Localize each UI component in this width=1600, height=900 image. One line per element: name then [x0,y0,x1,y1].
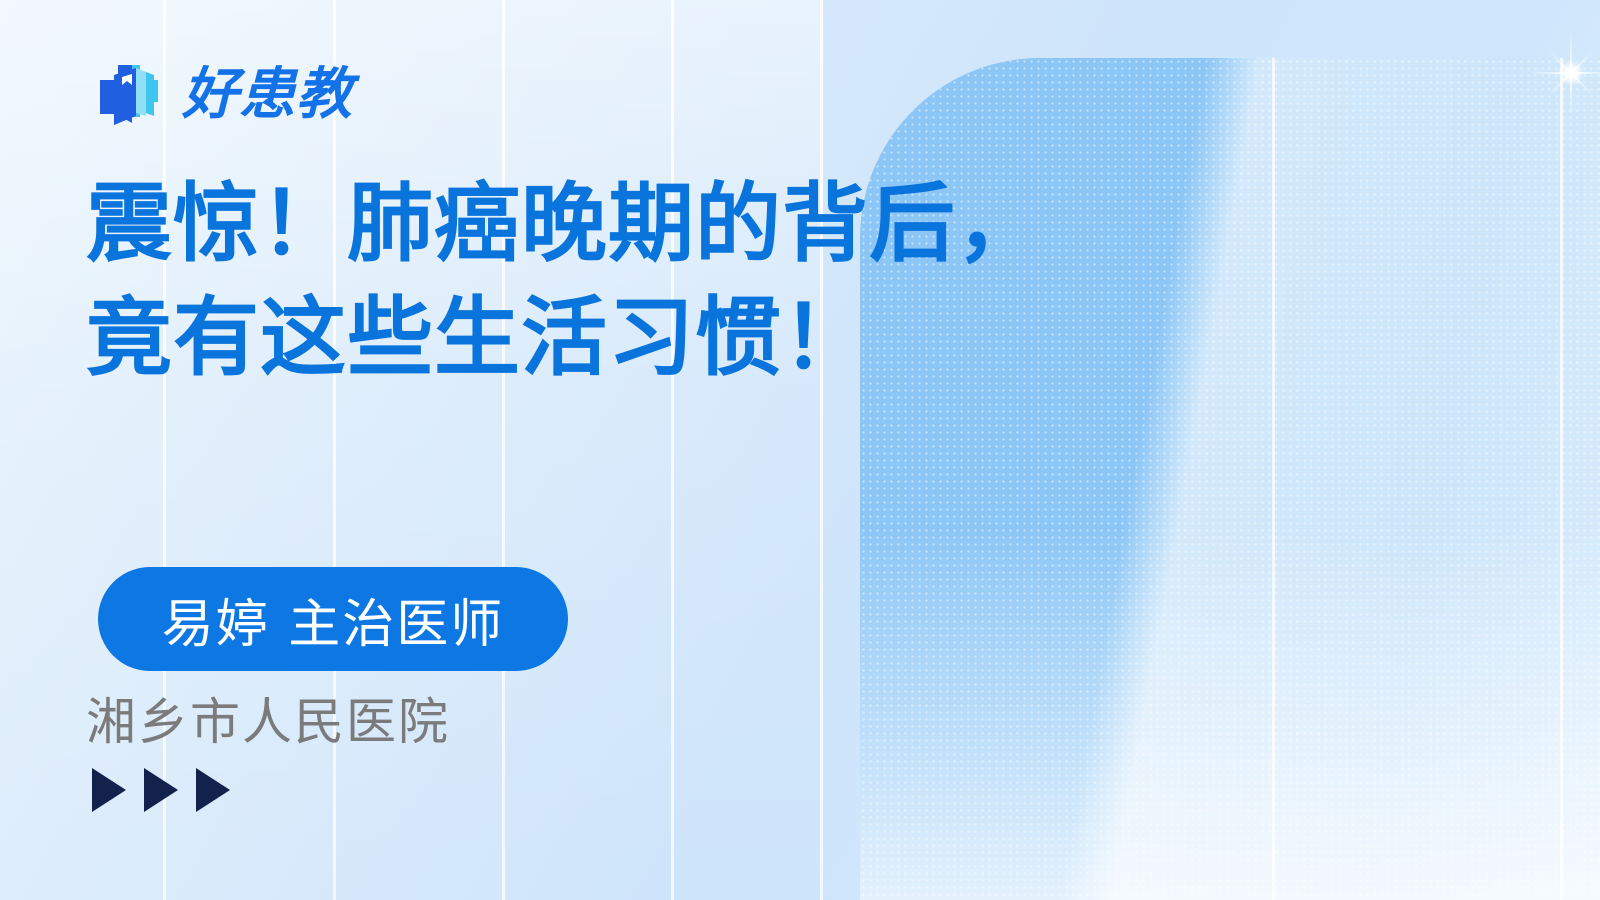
medical-cross-book-icon [88,55,168,135]
play-arrow-icon [196,768,230,812]
brand-logo: 好患教 [88,55,353,135]
play-arrow-icon [92,768,126,812]
doctor-name-badge[interactable]: 易婷 主治医师 [98,567,568,671]
play-arrows [92,768,230,812]
hospital-name: 湘乡市人民医院 [86,682,450,754]
play-arrow-icon [144,768,178,812]
headline-line-2: 竟有这些生活习惯！ [86,282,1146,396]
brand-name: 好患教 [182,67,353,123]
poster-canvas: 好患教 震惊！肺癌晚期的背后， 竟有这些生活习惯！ 易婷 主治医师 湘乡市人民医… [0,0,1600,900]
headline: 震惊！肺癌晚期的背后， 竟有这些生活习惯！ [86,168,1146,395]
headline-line-1: 震惊！肺癌晚期的背后， [86,168,1146,282]
